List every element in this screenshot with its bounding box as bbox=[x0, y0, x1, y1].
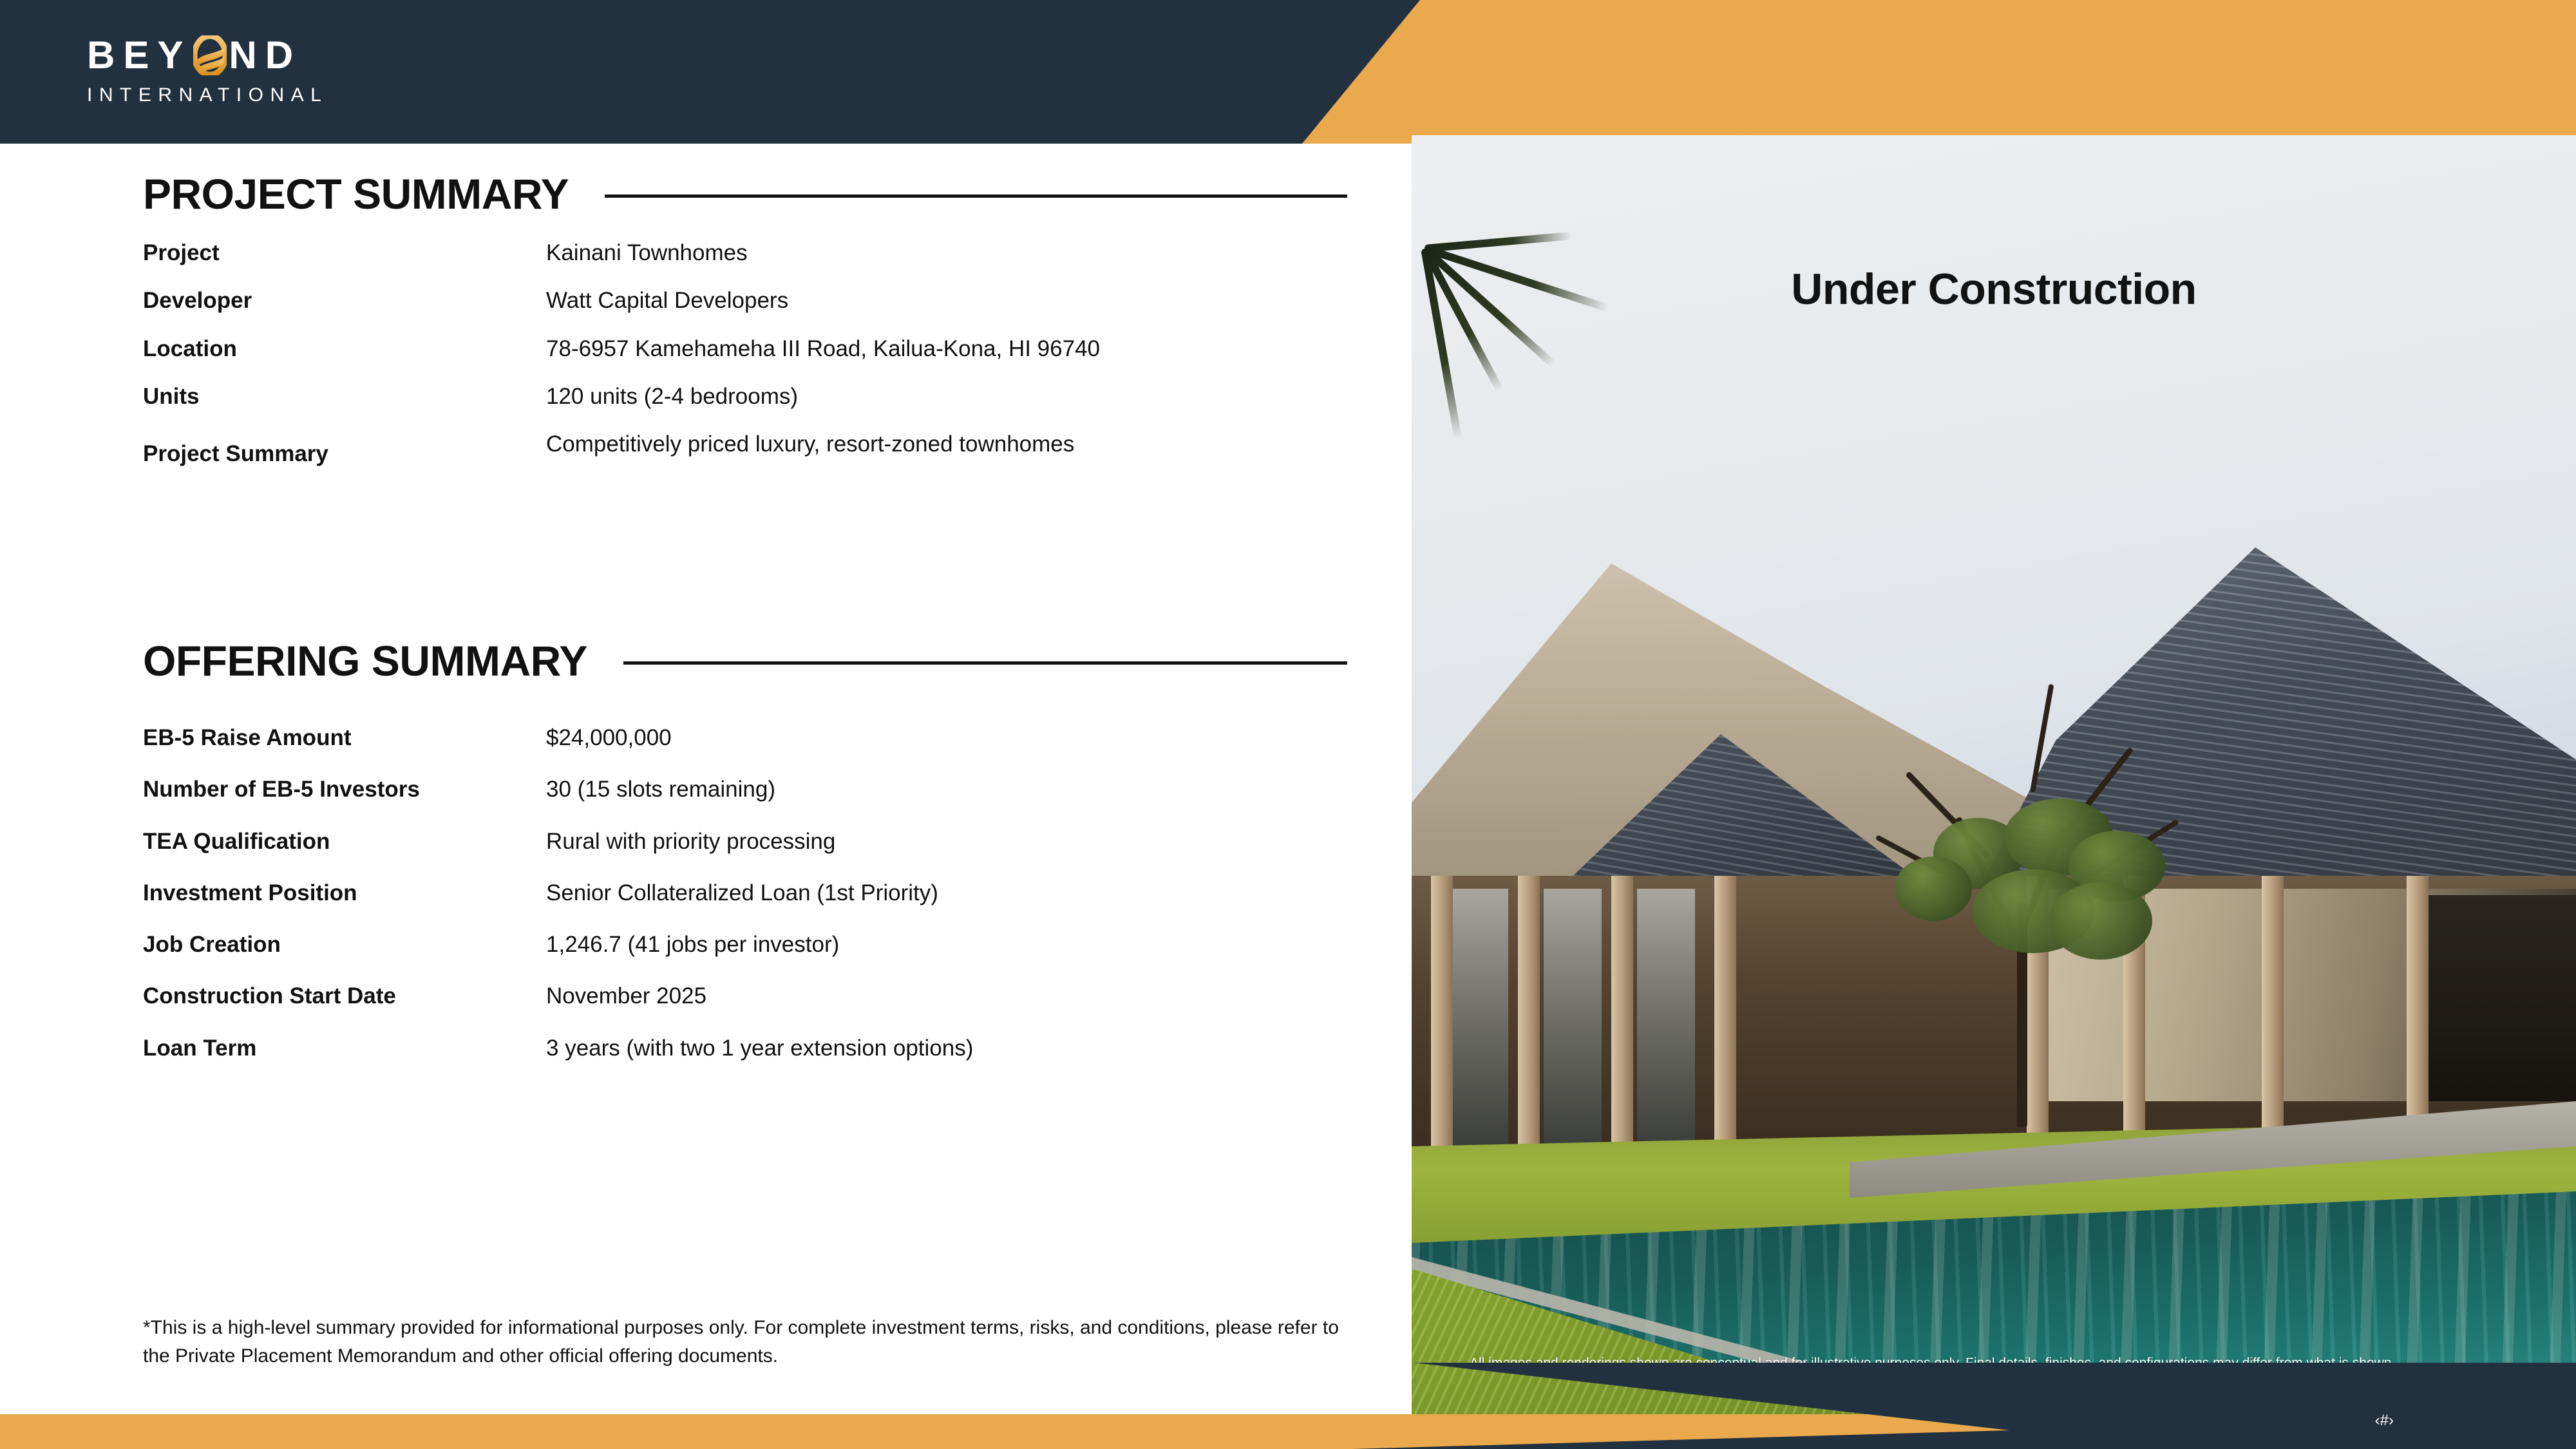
row-label: Project bbox=[143, 240, 546, 266]
row-label: Units bbox=[143, 384, 546, 410]
row-value: Competitively priced luxury, resort-zone… bbox=[546, 431, 1074, 457]
row-label: EB-5 Raise Amount bbox=[143, 725, 546, 751]
table-row: EB-5 Raise Amount $24,000,000 bbox=[143, 725, 1347, 751]
row-value: $24,000,000 bbox=[546, 725, 672, 751]
row-label: Number of EB-5 Investors bbox=[143, 777, 546, 802]
table-row: Units 120 units (2-4 bedrooms) bbox=[143, 384, 1347, 410]
row-value: 3 years (with two 1 year extension optio… bbox=[546, 1036, 973, 1061]
table-row: Job Creation 1,246.7 (41 jobs per invest… bbox=[143, 932, 1347, 958]
row-label: Construction Start Date bbox=[143, 983, 546, 1009]
table-row: Developer Watt Capital Developers bbox=[143, 288, 1347, 314]
row-label: TEA Qualification bbox=[143, 829, 546, 855]
table-row: Loan Term 3 years (with two 1 year exten… bbox=[143, 1036, 1347, 1061]
row-value: Rural with priority processing bbox=[546, 829, 835, 855]
row-label: Job Creation bbox=[143, 932, 546, 958]
row-label: Project Summary bbox=[143, 431, 546, 467]
row-label: Investment Position bbox=[143, 880, 546, 906]
offering-summary-rows: EB-5 Raise Amount $24,000,000 Number of … bbox=[143, 725, 1347, 1061]
row-value: 78-6957 Kamehameha III Road, Kailua-Kona… bbox=[546, 336, 1100, 362]
project-summary-title: PROJECT SUMMARY bbox=[143, 169, 569, 218]
offering-summary-section: OFFERING SUMMARY EB-5 Raise Amount $24,0… bbox=[143, 636, 1347, 1061]
row-label: Location bbox=[143, 336, 546, 362]
palm-tree-icon bbox=[1425, 245, 1695, 464]
table-row: TEA Qualification Rural with priority pr… bbox=[143, 829, 1347, 855]
row-value: 1,246.7 (41 jobs per investor) bbox=[546, 932, 839, 958]
row-value: Kainani Townhomes bbox=[546, 240, 748, 266]
row-value: November 2025 bbox=[546, 983, 706, 1009]
row-value: Watt Capital Developers bbox=[546, 288, 788, 314]
project-summary-rule bbox=[605, 194, 1347, 198]
project-summary-section: PROJECT SUMMARY Project Kainani Townhome… bbox=[143, 169, 1347, 467]
offering-summary-title: OFFERING SUMMARY bbox=[143, 636, 587, 685]
brand-name-part-nd: ND bbox=[229, 36, 301, 75]
page-number: ‹#› bbox=[2375, 1412, 2394, 1430]
brand-logo-wordmark: BEY ND bbox=[87, 35, 328, 75]
table-row: Location 78-6957 Kamehameha III Road, Ka… bbox=[143, 336, 1347, 362]
brand-name-part-bey: BEY bbox=[87, 36, 191, 75]
offering-summary-rule bbox=[623, 661, 1347, 665]
table-row: Project Summary Competitively priced lux… bbox=[143, 431, 1347, 467]
legal-footnote: *This is a high-level summary provided f… bbox=[143, 1314, 1347, 1370]
table-row: Project Kainani Townhomes bbox=[143, 240, 1347, 266]
project-summary-rows: Project Kainani Townhomes Developer Watt… bbox=[143, 240, 1347, 467]
table-row: Investment Position Senior Collateralize… bbox=[143, 880, 1347, 906]
sun-wave-o-icon bbox=[193, 35, 227, 75]
row-value: 30 (15 slots remaining) bbox=[546, 777, 775, 802]
row-value: Senior Collateralized Loan (1st Priority… bbox=[546, 880, 938, 906]
left-content-panel: PROJECT SUMMARY Project Kainani Townhome… bbox=[0, 144, 1412, 1414]
plumeria-tree-icon bbox=[1856, 625, 2217, 1127]
brand-logo-subtitle: INTERNATIONAL bbox=[87, 86, 328, 105]
offering-summary-header: OFFERING SUMMARY bbox=[143, 636, 1347, 685]
row-label: Loan Term bbox=[143, 1036, 546, 1061]
table-row: Number of EB-5 Investors 30 (15 slots re… bbox=[143, 777, 1347, 802]
project-photo: Under Construction All images and render… bbox=[1412, 135, 2576, 1414]
brand-logo[interactable]: BEY ND INTERNATIONAL bbox=[87, 35, 328, 105]
table-row: Construction Start Date November 2025 bbox=[143, 983, 1347, 1009]
row-label: Developer bbox=[143, 288, 546, 314]
project-summary-header: PROJECT SUMMARY bbox=[143, 169, 1347, 218]
row-value: 120 units (2-4 bedrooms) bbox=[546, 384, 798, 410]
